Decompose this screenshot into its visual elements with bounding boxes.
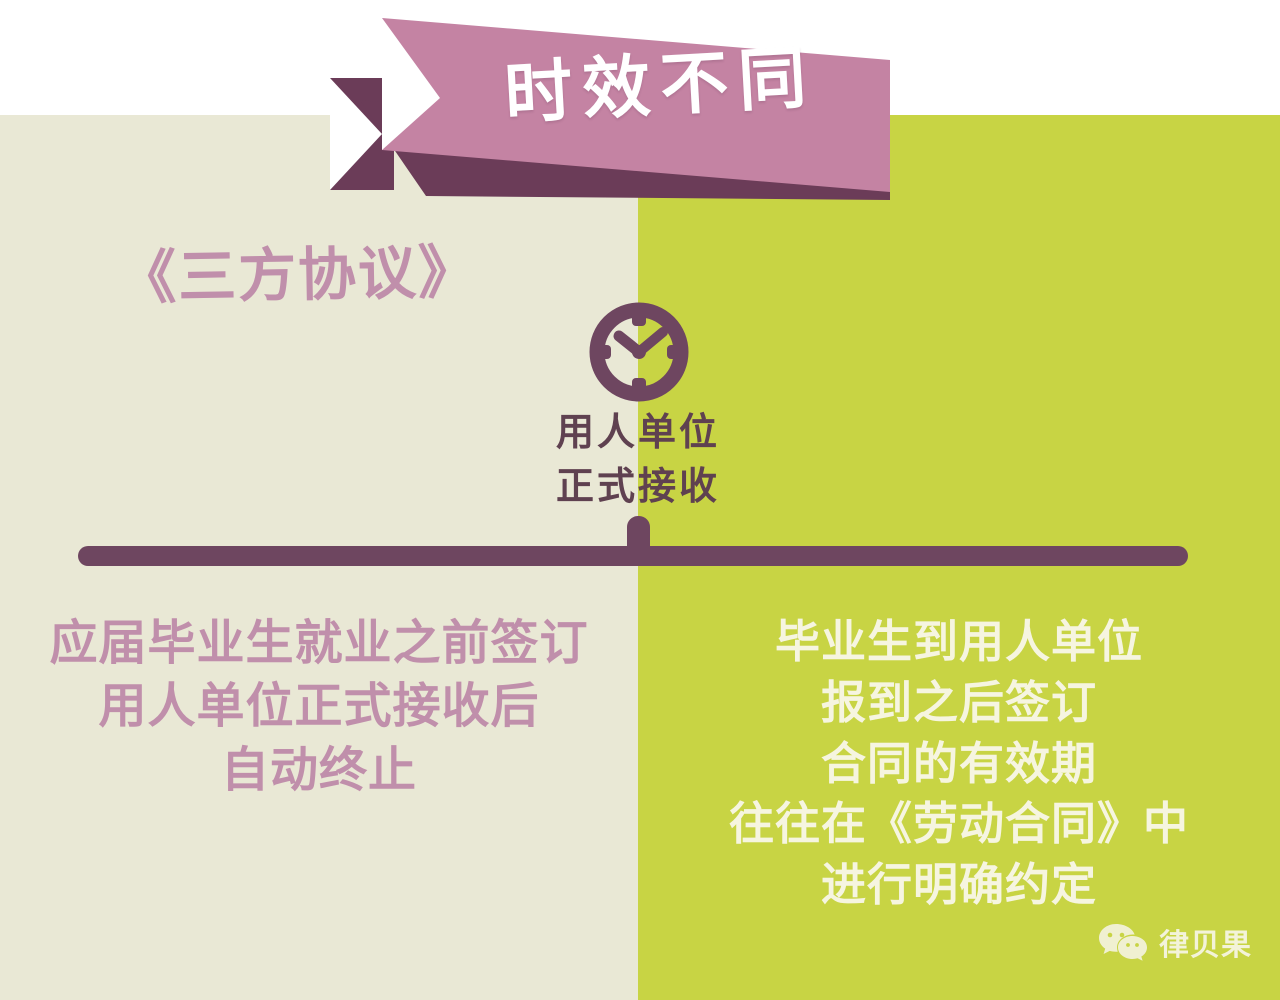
left-description-line: 自动终止 <box>0 739 638 802</box>
right-description-line: 毕业生到用人单位 <box>638 612 1280 673</box>
milestone-label-line: 用人单位 <box>438 406 838 460</box>
wechat-icon <box>1097 922 1149 962</box>
banner-ribbon: 时效不同 <box>330 0 890 215</box>
left-description-text: 应届毕业生就业之前签订 用人单位正式接收后 自动终止 <box>0 612 638 802</box>
infographic-poster: 时效不同 《三方协议》 用人单位 正式接收 应届毕业生就业之前签订 用人单位正式… <box>0 0 1280 1000</box>
left-description-line: 应届毕业生就业之前签订 <box>0 612 638 675</box>
right-description-line: 往往在《劳动合同》中 <box>638 794 1280 855</box>
right-description-line: 报到之后签订 <box>638 673 1280 734</box>
right-description-text: 毕业生到用人单位 报到之后签订 合同的有效期 往往在《劳动合同》中 进行明确约定 <box>638 612 1280 916</box>
agreement-title: 《三方协议》 <box>117 225 478 315</box>
clock-icon <box>585 300 693 404</box>
milestone-label-line: 正式接收 <box>438 460 838 514</box>
left-description-line: 用人单位正式接收后 <box>0 675 638 738</box>
timeline-milestone-tick <box>627 516 650 561</box>
milestone-label: 用人单位 正式接收 <box>438 406 838 514</box>
right-description-line: 进行明确约定 <box>638 855 1280 916</box>
wechat-account-name: 律贝果 <box>1159 920 1252 964</box>
wechat-watermark: 律贝果 <box>1097 920 1252 964</box>
right-description-line: 合同的有效期 <box>638 734 1280 795</box>
